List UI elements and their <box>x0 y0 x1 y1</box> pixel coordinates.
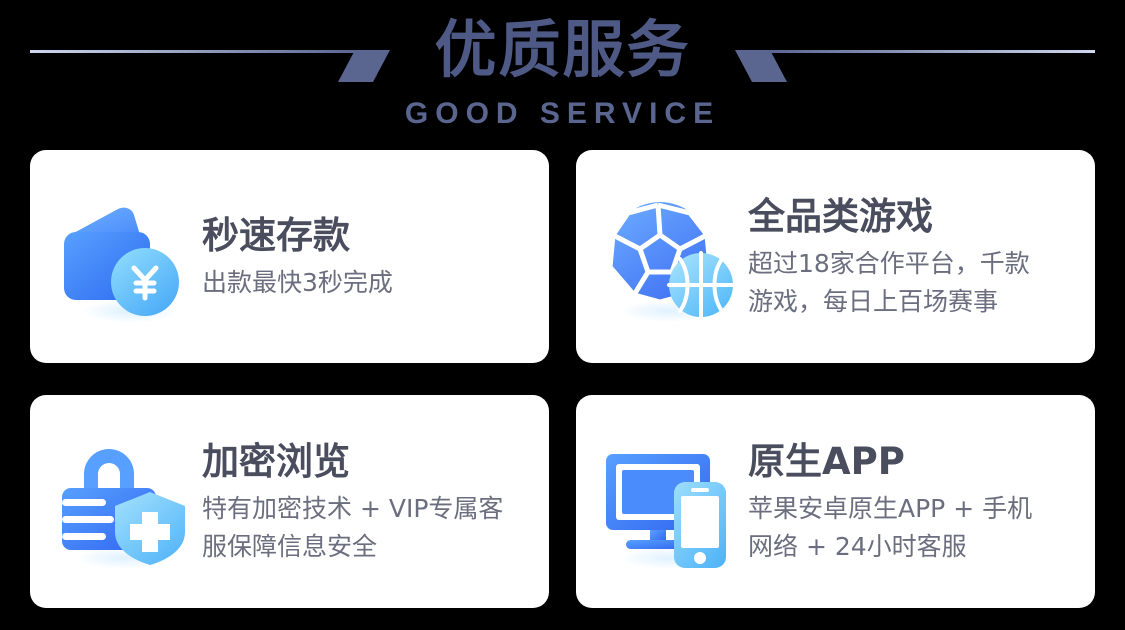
card-subtitle-line: 苹果安卓原生APP + 手机 <box>748 490 1077 528</box>
card-subtitle-line: 超过18家合作平台，千款 <box>748 245 1077 283</box>
page-subtitle: GOOD SERVICE <box>0 96 1125 132</box>
lock-shield-icon <box>52 432 202 572</box>
card-title: 全品类游戏 <box>748 193 1077 241</box>
wallet-yen-icon <box>52 187 202 327</box>
promo-banner: 优质服务 GOOD SERVICE <box>0 0 1125 630</box>
page-title: 优质服务 <box>0 10 1125 90</box>
feature-card-encryption[interactable]: 加密浏览 特有加密技术 + VIP专属客 服保障信息安全 <box>30 395 549 608</box>
feature-card-text: 原生APP 苹果安卓原生APP + 手机 网络 + 24小时客服 <box>748 438 1095 566</box>
feature-card-games[interactable]: 全品类游戏 超过18家合作平台，千款 游戏，每日上百场赛事 <box>576 150 1095 363</box>
card-title: 原生APP <box>748 438 1077 486</box>
feature-card-text: 秒速存款 出款最快3秒完成 <box>202 212 549 302</box>
card-subtitle: 苹果安卓原生APP + 手机 网络 + 24小时客服 <box>748 490 1077 566</box>
feature-card-text: 全品类游戏 超过18家合作平台，千款 游戏，每日上百场赛事 <box>748 193 1095 321</box>
card-subtitle-line: 出款最快3秒完成 <box>202 264 531 302</box>
card-subtitle: 出款最快3秒完成 <box>202 264 531 302</box>
card-subtitle-line: 游戏，每日上百场赛事 <box>748 283 1077 321</box>
card-title: 加密浏览 <box>202 438 531 486</box>
feature-card-deposit[interactable]: 秒速存款 出款最快3秒完成 <box>30 150 549 363</box>
card-subtitle-line: 服保障信息安全 <box>202 528 531 566</box>
feature-card-native-app[interactable]: 原生APP 苹果安卓原生APP + 手机 网络 + 24小时客服 <box>576 395 1095 608</box>
card-subtitle-line: 网络 + 24小时客服 <box>748 528 1077 566</box>
feature-card-grid: 秒速存款 出款最快3秒完成 <box>30 150 1095 608</box>
feature-card-text: 加密浏览 特有加密技术 + VIP专属客 服保障信息安全 <box>202 438 549 566</box>
header: 优质服务 GOOD SERVICE <box>0 0 1125 145</box>
monitor-phone-icon <box>598 432 748 572</box>
card-title: 秒速存款 <box>202 212 531 260</box>
soccer-basketball-icon <box>598 187 748 327</box>
card-subtitle: 特有加密技术 + VIP专属客 服保障信息安全 <box>202 490 531 566</box>
card-subtitle: 超过18家合作平台，千款 游戏，每日上百场赛事 <box>748 245 1077 321</box>
card-subtitle-line: 特有加密技术 + VIP专属客 <box>202 490 531 528</box>
